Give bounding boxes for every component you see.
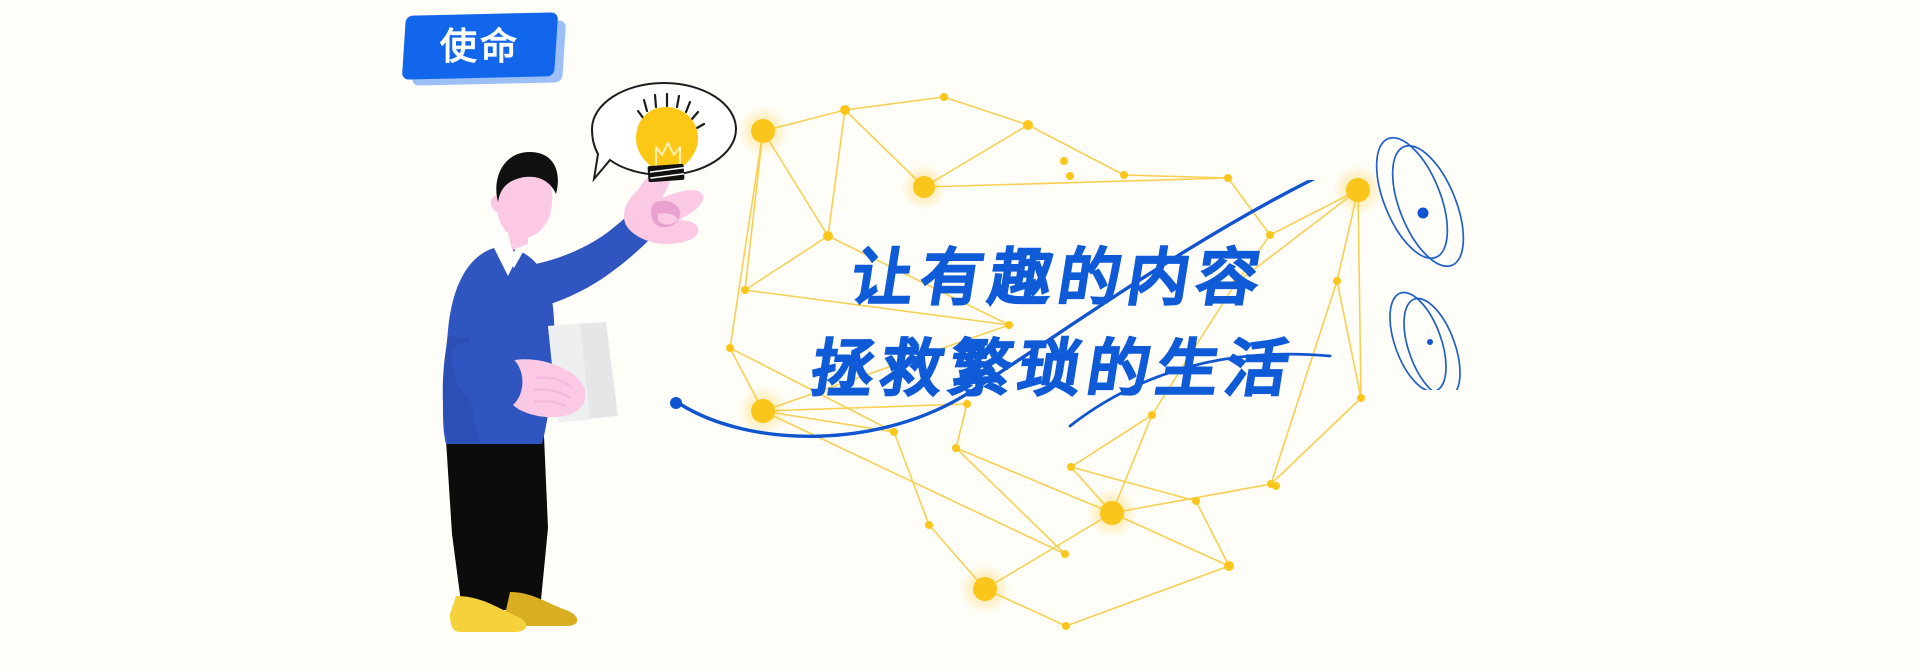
bubble-svg [580, 55, 750, 190]
bulb-base [647, 164, 684, 182]
mission-banner: 让有趣的内容 拯救繁琐的生活 [0, 0, 1920, 670]
badge-plate[interactable]: 使命 [402, 12, 558, 79]
idea-speech-bubble [0, 0, 1920, 670]
badge-wrapper[interactable]: 使命 [398, 8, 578, 92]
badge-label: 使命 [440, 28, 520, 65]
